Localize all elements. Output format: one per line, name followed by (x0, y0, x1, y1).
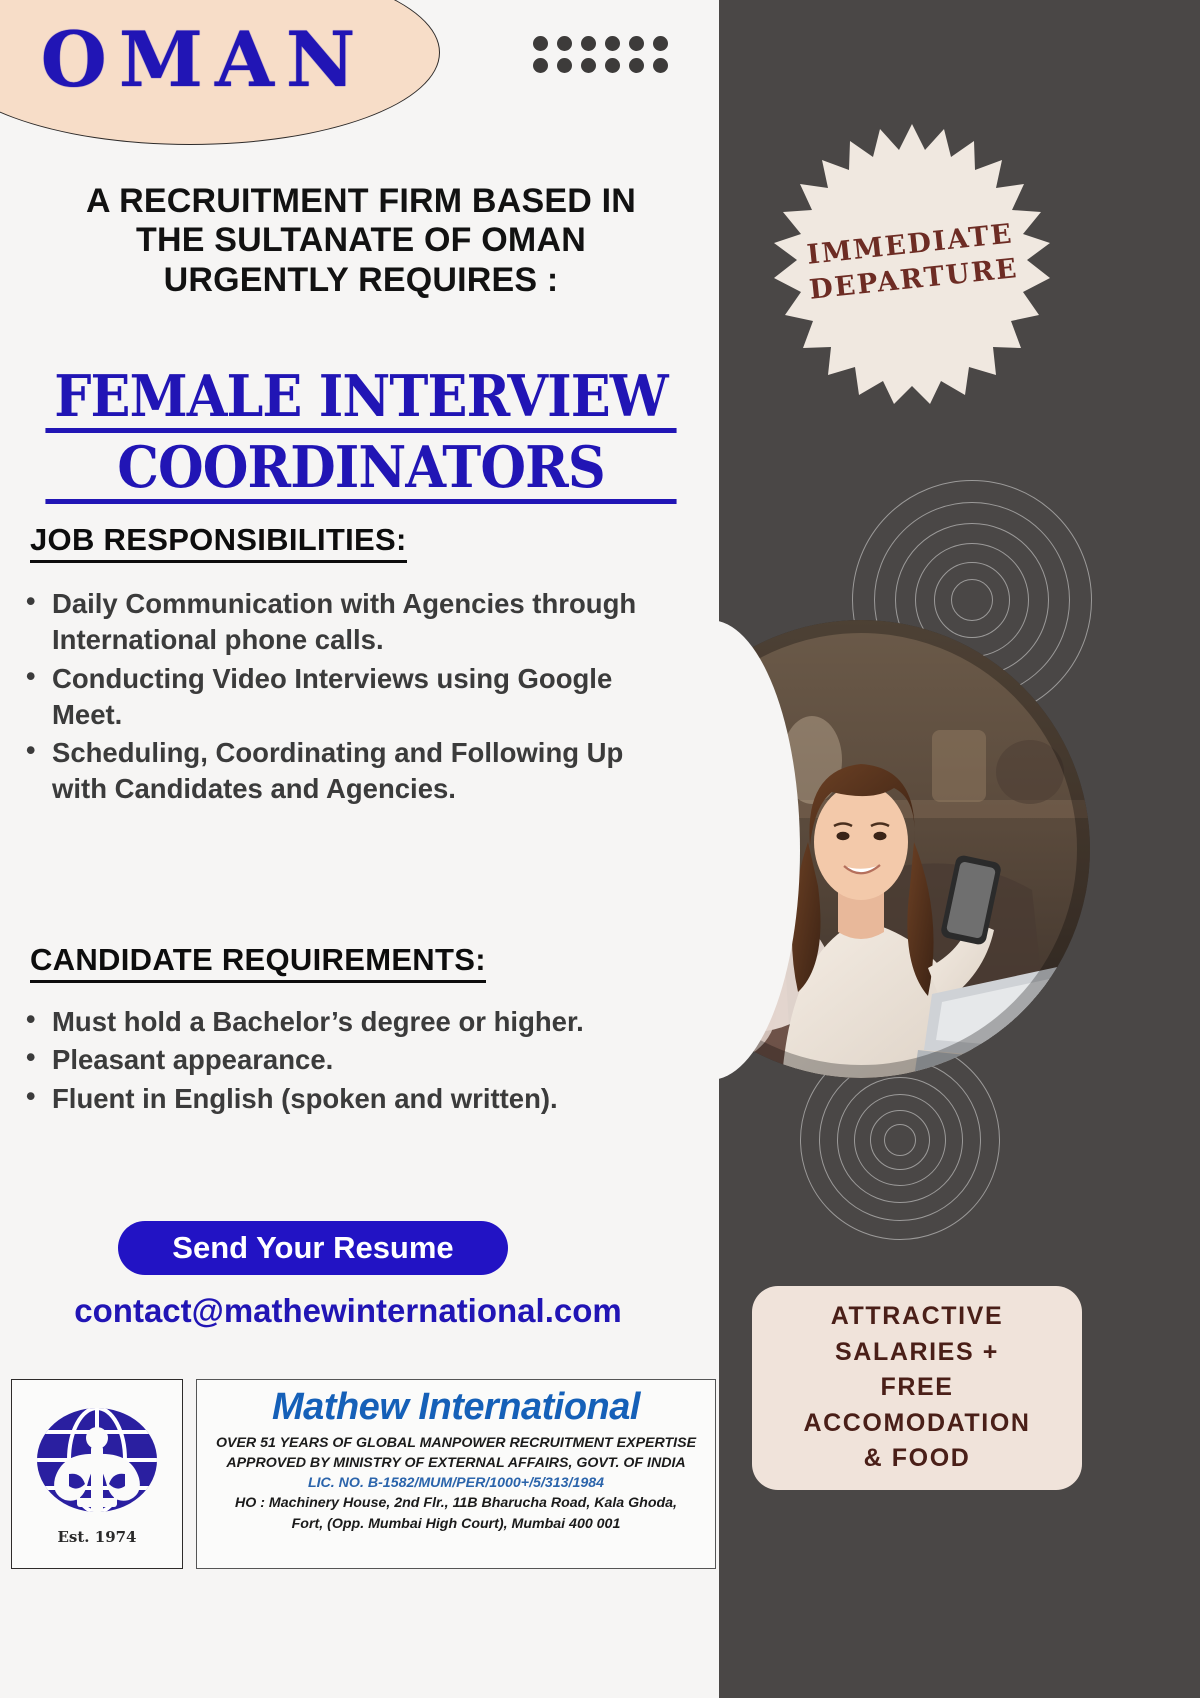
headline-line-2: THE SULTANATE OF OMAN (36, 221, 686, 260)
company-info-box: Mathew International OVER 51 YEARS OF GL… (196, 1379, 716, 1569)
perks-badge: ATTRACTIVE SALARIES + FREE ACCOMODATION … (752, 1286, 1082, 1490)
send-resume-button[interactable]: Send Your Resume (118, 1221, 508, 1275)
starburst-label: IMMEDIATE DEPARTURE (748, 105, 1076, 419)
company-logo-box: Est. 1974 (11, 1379, 183, 1569)
job-title-line-2: COORDINATORS (45, 439, 676, 504)
dot (581, 58, 596, 73)
dot (533, 58, 548, 73)
company-name: Mathew International (207, 1388, 705, 1428)
dot (653, 58, 668, 73)
company-tagline: OVER 51 YEARS OF GLOBAL MANPOWER RECRUIT… (207, 1433, 705, 1453)
dot (557, 58, 572, 73)
job-title-line-1: FEMALE INTERVIEW (45, 368, 676, 433)
list-item: Must hold a Bachelor’s degree or higher. (22, 1004, 662, 1040)
perks-line-1: ATTRACTIVE (803, 1299, 1030, 1335)
responsibilities-heading: JOB RESPONSIBILITIES: (30, 522, 407, 563)
dot (557, 36, 572, 51)
requirements-list: Must hold a Bachelor’s degree or higher.… (22, 1004, 662, 1119)
headline-line-3: URGENTLY REQUIRES : (36, 261, 686, 300)
job-title: FEMALE INTERVIEW COORDINATORS (18, 368, 704, 504)
immediate-departure-badge: IMMEDIATE DEPARTURE (762, 120, 1062, 404)
dot (533, 36, 548, 51)
contact-email[interactable]: contact@mathewinternational.com (18, 1292, 678, 1330)
established-year: Est. 1974 (58, 1528, 137, 1546)
list-item: Conducting Video Interviews using Google… (22, 661, 662, 734)
dot (605, 58, 620, 73)
perks-line-5: & FOOD (803, 1441, 1030, 1477)
headline: A RECRUITMENT FIRM BASED IN THE SULTANAT… (36, 182, 686, 300)
license-number: LIC. NO. B-1582/MUM/PER/1000+/5/313/1984 (207, 1473, 705, 1493)
list-item: Daily Communication with Agencies throug… (22, 586, 662, 659)
country-badge-label: OMAN (13, 1, 368, 104)
dot (629, 58, 644, 73)
company-address-line-2: Fort, (Opp. Mumbai High Court), Mumbai 4… (207, 1514, 705, 1534)
globe-person-logo-icon (29, 1402, 165, 1526)
list-item: Scheduling, Coordinating and Following U… (22, 735, 662, 808)
requirements-heading: CANDIDATE REQUIREMENTS: (30, 942, 486, 983)
responsibilities-list: Daily Communication with Agencies throug… (22, 586, 662, 810)
dot-grid-decoration (533, 36, 677, 80)
dot (653, 36, 668, 51)
perks-line-4: ACCOMODATION (803, 1406, 1030, 1442)
company-address-line-1: HO : Machinery House, 2nd Flr., 11B Bhar… (207, 1493, 705, 1513)
dot (581, 36, 596, 51)
perks-line-2: SALARIES + (803, 1335, 1030, 1371)
dot (629, 36, 644, 51)
dot (605, 36, 620, 51)
list-item: Pleasant appearance. (22, 1042, 662, 1078)
headline-line-1: A RECRUITMENT FIRM BASED IN (36, 182, 686, 221)
company-approval: APPROVED BY MINISTRY OF EXTERNAL AFFAIRS… (207, 1453, 705, 1473)
list-item: Fluent in English (spoken and written). (22, 1081, 662, 1117)
perks-line-3: FREE (803, 1370, 1030, 1406)
